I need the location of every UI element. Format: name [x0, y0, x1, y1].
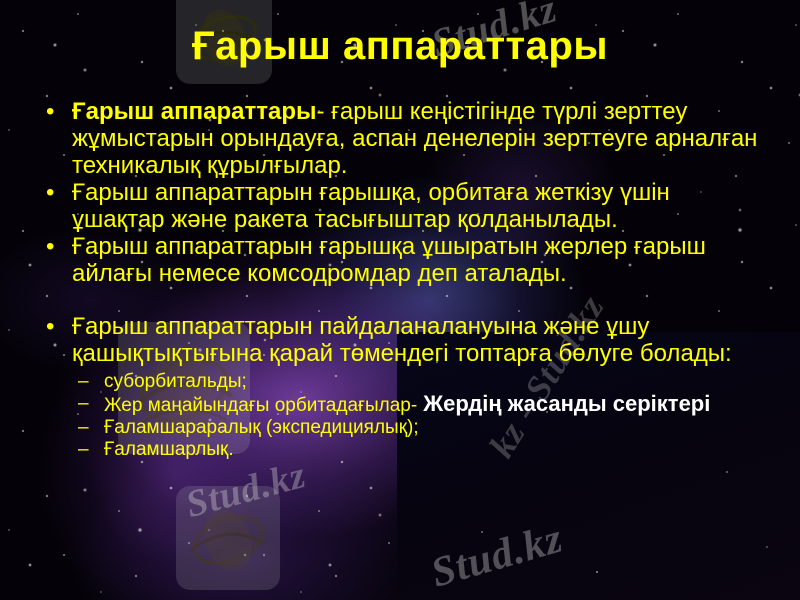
sub-bullet-item-4: –Ғаламшарлық. [72, 439, 766, 461]
watermark-stud-kz-middle: Stud.kz [181, 453, 310, 527]
bullet-1-lead: Ғарыш аппараттары [72, 98, 317, 125]
bullet-item-3: •Ғарыш аппараттарын ғарышқа ұшыратын жер… [36, 233, 766, 287]
sub-bullet-item-2: –Жер маңайындағы орбитадағылар- Жердің ж… [72, 393, 766, 417]
sub-bullet-1-text: суборбитальды; [104, 371, 247, 392]
bullet-3-text: Ғарыш аппараттарын ғарышқа ұшыратын жерл… [72, 233, 706, 287]
sub-bullet-4-text: Ғаламшарлық. [104, 439, 234, 460]
sub-bullet-item-1: –суборбитальды; [72, 371, 766, 393]
watermark-logo-bottom-icon [176, 486, 280, 590]
bullet-marker-icon: • [46, 179, 54, 206]
sub-bullet-2-emphasis: Жердің жасанды серіктері [417, 391, 710, 416]
presentation-slide: Stud.kz Stud.kz Stud.kz kz - Stud.kz Ғар… [0, 0, 800, 600]
dash-marker-icon: – [78, 371, 89, 393]
bullet-4-text: Ғарыш аппараттарын пайдаланалануына және… [72, 313, 732, 367]
bullet-item-1: •Ғарыш аппараттары- ғарыш кеңістігінде т… [36, 98, 766, 179]
dash-marker-icon: – [78, 417, 89, 439]
bullet-marker-icon: • [46, 313, 54, 340]
sub-bullet-3-text: Ғаламшараралық (экспедициялық); [104, 417, 419, 438]
bullet-2-text: Ғарыш аппараттарын ғарышқа, орбитаға жет… [72, 179, 670, 233]
bullet-marker-icon: • [46, 98, 54, 125]
slide-body: •Ғарыш аппараттары- ғарыш кеңістігінде т… [36, 98, 766, 461]
dash-marker-icon: – [78, 439, 89, 461]
bullet-marker-icon: • [46, 233, 54, 260]
sub-bullet-item-3: –Ғаламшараралық (экспедициялық); [72, 417, 766, 439]
bullet-item-2: •Ғарыш аппараттарын ғарышқа, орбитаға же… [36, 179, 766, 233]
bullet-item-4: •Ғарыш аппараттарын пайдаланалануына жән… [36, 313, 766, 461]
sub-bullet-list: –суборбитальды; –Жер маңайындағы орбитад… [72, 371, 766, 461]
bullet-list: •Ғарыш аппараттары- ғарыш кеңістігінде т… [36, 98, 766, 461]
slide-title: Ғарыш аппараттары [0, 24, 800, 69]
dash-marker-icon: – [78, 393, 89, 415]
sub-bullet-2-text: Жер маңайындағы орбитадағылар- [104, 395, 417, 416]
